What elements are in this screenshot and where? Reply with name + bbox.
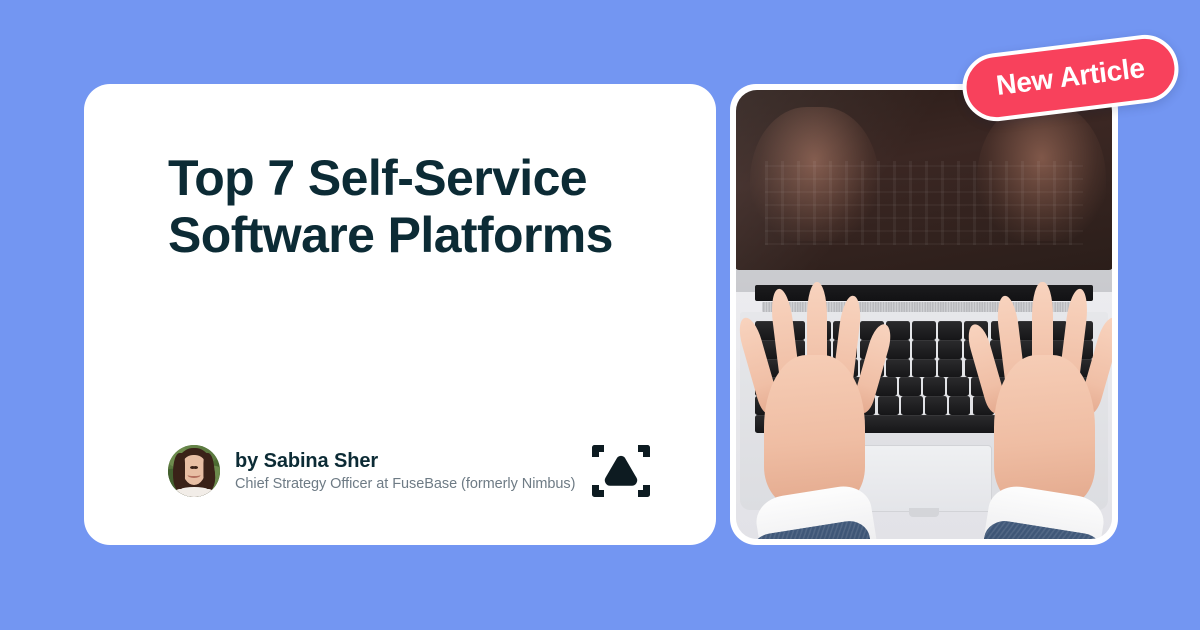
laptop-deck-notch — [909, 508, 939, 516]
hand-right — [984, 288, 1104, 539]
author-role: Chief Strategy Officer at FuseBase (form… — [235, 476, 575, 492]
status-badge[interactable]: New Article — [959, 31, 1183, 125]
palm — [764, 355, 865, 506]
laptop-lid — [736, 90, 1112, 292]
fusebase-logo-icon[interactable] — [590, 443, 652, 499]
hand-left — [755, 288, 875, 539]
article-card[interactable]: Top 7 Self-Service Software Platforms — [84, 84, 716, 545]
avatar-smile — [188, 472, 201, 478]
avatar-hair-left — [173, 453, 184, 488]
author-name: by Sabina Sher — [235, 450, 575, 473]
card-footer: by Sabina Sher Chief Strategy Officer at… — [128, 443, 660, 505]
author-text: by Sabina Sher Chief Strategy Officer at… — [235, 450, 575, 492]
laptop-trackpad — [856, 445, 991, 512]
palm — [994, 355, 1095, 506]
hero-image-panel[interactable] — [730, 84, 1118, 545]
laptop-screen — [736, 90, 1112, 270]
page-title: Top 7 Self-Service Software Platforms — [128, 136, 648, 264]
avatar-eye-right — [193, 466, 198, 469]
status-badge-label: New Article — [994, 52, 1146, 101]
avatar — [168, 445, 220, 497]
hero-image — [736, 90, 1112, 539]
social-card-canvas: Top 7 Self-Service Software Platforms — [0, 0, 1200, 630]
screen-glare — [736, 90, 1112, 270]
author-block[interactable]: by Sabina Sher Chief Strategy Officer at… — [168, 445, 575, 497]
